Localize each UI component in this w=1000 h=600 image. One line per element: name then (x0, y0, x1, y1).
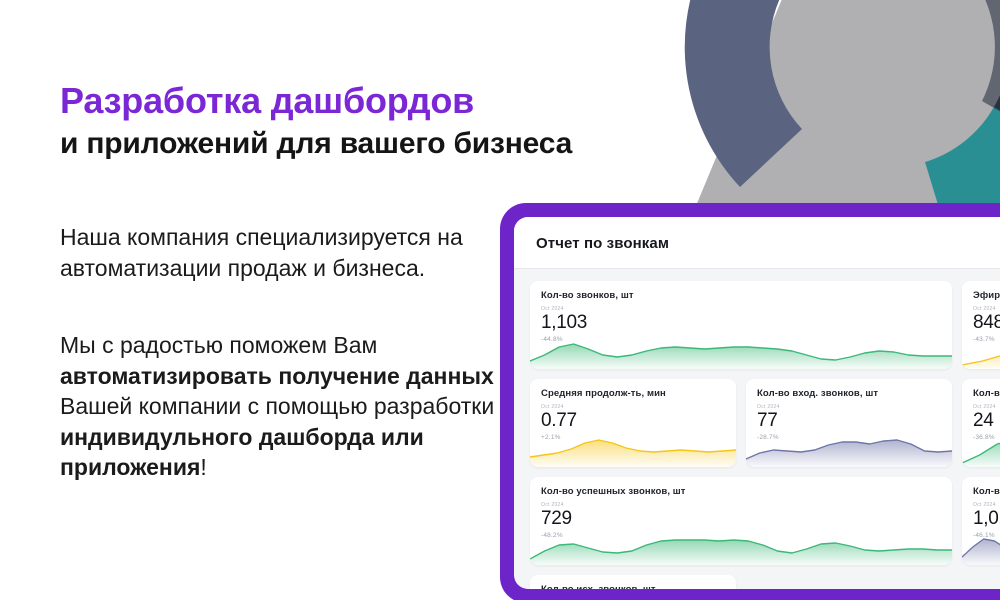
dashboard-header: Отчет по звонкам (514, 217, 1000, 268)
kpi-card-value: 0.77 (541, 411, 725, 431)
kpi-card-title: Кол-во вх. звонков, шт (973, 388, 1000, 399)
kpi-card-period: Oct 2024 (757, 404, 941, 410)
page-title: Разработка дашбордов (60, 80, 680, 122)
kpi-sparkline (962, 531, 1000, 565)
kpi-card-title: Кол-во исх. звонков, шт (541, 584, 725, 589)
offer-bold-1: автоматизировать получение данных (60, 363, 494, 389)
dashboard-screen: Отчет по звонкам Кол-во звонков, штOct 2… (514, 217, 1000, 589)
kpi-card-period: Oct 2024 (541, 306, 941, 312)
kpi-card[interactable]: Кол-во вход. звонков, штOct 202477-28.7% (746, 379, 952, 467)
kpi-card[interactable]: Кол-во вх. звонков, штOct 202424-36.8% (962, 379, 1000, 467)
kpi-card-title: Средняя продолж-ть, мин (541, 388, 725, 399)
kpi-card[interactable]: Кол-во звонков, штOct 20241,103-44.8% (530, 281, 952, 369)
offer-text-1: Мы с радостью поможем Вам (60, 332, 377, 358)
kpi-sparkline (530, 433, 736, 467)
paragraph-offer: Мы с радостью поможем Вам автоматизирова… (60, 330, 530, 483)
kpi-card-value: 24 (973, 411, 1000, 431)
kpi-sparkline (530, 335, 952, 369)
kpi-card-value: 77 (757, 411, 941, 431)
dashboard-title: Отчет по звонкам (536, 235, 1000, 252)
kpi-card-period: Oct 2024 (541, 502, 941, 508)
kpi-card-title: Кол-во успешных звонков, шт (541, 486, 941, 497)
kpi-sparkline (530, 531, 952, 565)
kpi-card-value: 729 (541, 509, 941, 529)
device-frame: Отчет по звонкам Кол-во звонков, штOct 2… (500, 203, 1000, 600)
kpi-card-value: 1,103 (541, 313, 941, 333)
kpi-card-title: Кол-во исх. звонков, шт (973, 486, 1000, 497)
paragraph-about: Наша компания специализируется на автома… (60, 222, 530, 283)
page-subtitle: и приложений для вашего бизнеса (60, 126, 680, 162)
kpi-card-title: Эфирное время, мин (973, 290, 1000, 301)
kpi-card[interactable]: Кол-во успешных звонков, штOct 2024729-4… (530, 477, 952, 565)
offer-text-3: ! (200, 454, 206, 480)
slide-canvas: Разработка дашбордов и приложений для ва… (0, 0, 1000, 600)
kpi-card-title: Кол-во вход. звонков, шт (757, 388, 941, 399)
kpi-card-value: 848 (973, 313, 1000, 333)
kpi-sparkline (962, 335, 1000, 369)
kpi-card[interactable]: Эфирное время, минOct 2024848-43.7% (962, 281, 1000, 369)
kpi-card[interactable]: Кол-во исх. звонков, штOct 20241,012-46.… (962, 477, 1000, 565)
kpi-card-value: 1,012 (973, 509, 1000, 529)
kpi-sparkline (746, 433, 952, 467)
kpi-card[interactable]: Средняя продолж-ть, минOct 20240.77+2.1% (530, 379, 736, 467)
offer-bold-2: индивидульного дашборда или приложения (60, 424, 424, 481)
kpi-card-grid: Кол-во звонков, штOct 20241,103-44.8%Эфи… (514, 269, 1000, 589)
kpi-card-title: Кол-во звонков, шт (541, 290, 941, 301)
kpi-card[interactable]: Кол-во исх. звонков, штOct 2024322-50.8% (530, 575, 736, 589)
kpi-sparkline (962, 433, 1000, 467)
hero-copy: Разработка дашбордов и приложений для ва… (60, 80, 680, 162)
